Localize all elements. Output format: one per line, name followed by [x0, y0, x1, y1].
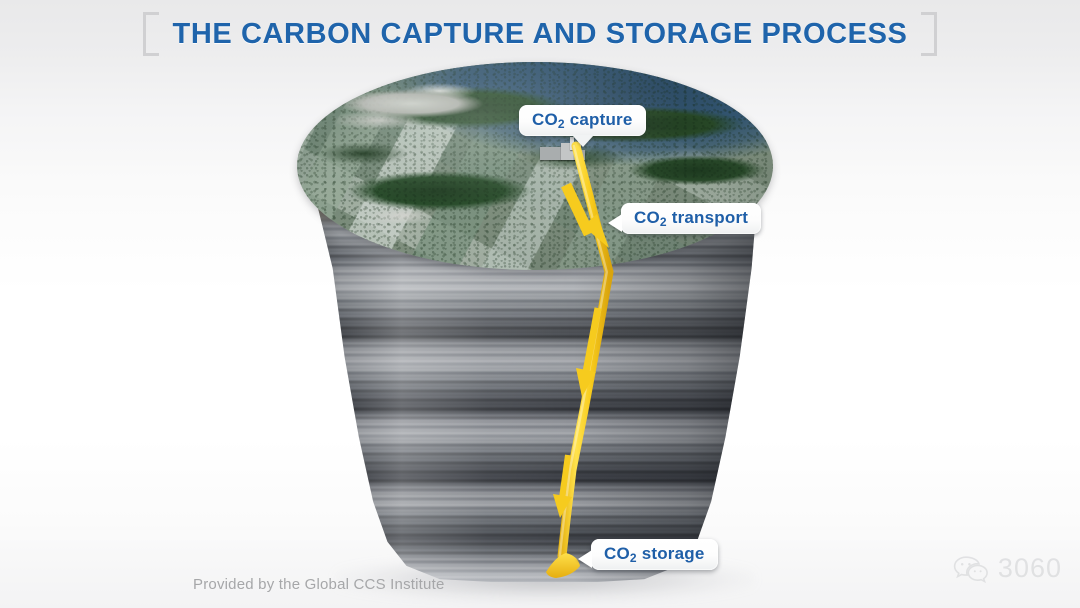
callout-co2-storage[interactable]: CO2 storage	[591, 539, 718, 570]
page-title: THE CARBON CAPTURE AND STORAGE PROCESS	[0, 12, 1080, 56]
wechat-icon	[953, 555, 989, 583]
callout-storage-subscript: 2	[630, 551, 637, 565]
slide-canvas: THE CARBON CAPTURE AND STORAGE PROCESS	[0, 0, 1080, 608]
callout-capture-suffix: capture	[565, 110, 633, 129]
earth-core-cutaway	[297, 62, 773, 582]
callout-capture-tail	[572, 135, 594, 147]
credit-text: Provided by the Global CCS Institute	[193, 576, 445, 593]
callout-storage-prefix: CO	[604, 544, 630, 563]
title-bracket-right	[921, 12, 937, 56]
watermark: 3060	[953, 553, 1062, 584]
watermark-text: 3060	[998, 553, 1062, 584]
callout-capture-prefix: CO	[532, 110, 558, 129]
callout-co2-capture[interactable]: CO2 capture	[519, 105, 646, 136]
callout-storage-tail	[578, 550, 592, 568]
callout-storage-suffix: storage	[637, 544, 705, 563]
callout-transport-tail	[608, 214, 622, 232]
title-bracket-left	[143, 12, 159, 56]
callout-capture-subscript: 2	[558, 117, 565, 131]
page-title-text: THE CARBON CAPTURE AND STORAGE PROCESS	[173, 18, 908, 51]
callout-transport-prefix: CO	[634, 208, 660, 227]
surface-lighting-overlay	[297, 62, 773, 270]
callout-transport-subscript: 2	[660, 215, 667, 229]
callout-co2-transport[interactable]: CO2 transport	[621, 203, 761, 234]
aerial-landscape-surface	[297, 62, 773, 270]
callout-transport-suffix: transport	[667, 208, 748, 227]
